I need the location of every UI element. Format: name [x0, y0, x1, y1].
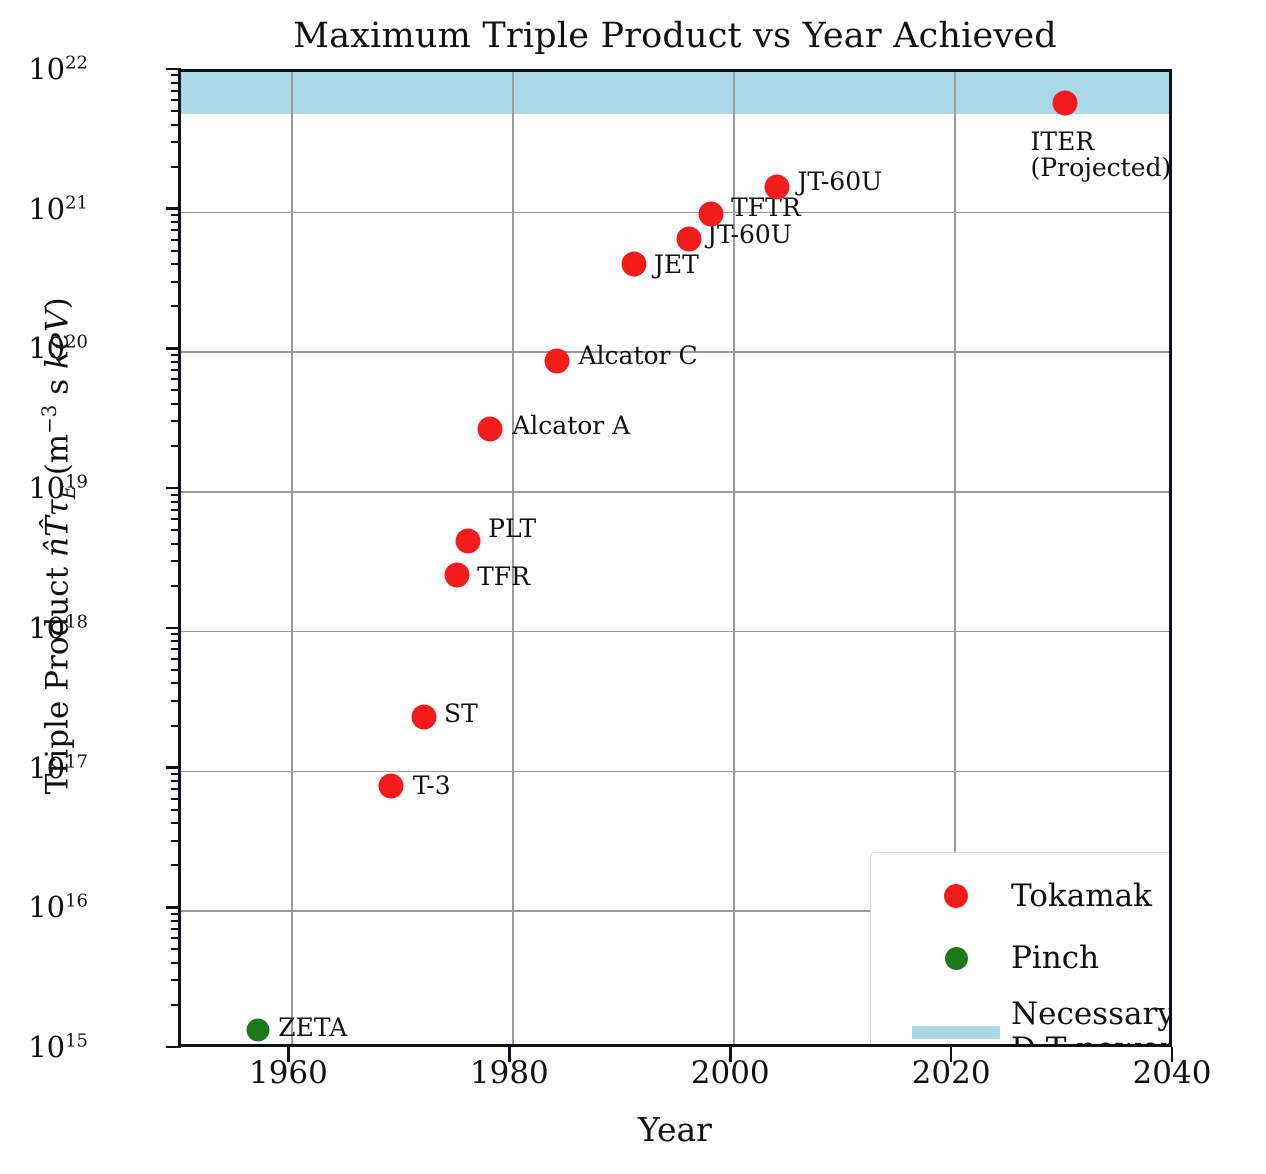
- legend-entry-tokamak: Tokamak: [871, 865, 1172, 927]
- data-point-jt-60u[interactable]: [765, 175, 790, 200]
- y-tick-minor: [171, 700, 180, 702]
- y-axis-label-lead: Triple Product: [40, 557, 76, 794]
- data-point-t-3[interactable]: [378, 773, 403, 798]
- y-tick-minor: [171, 913, 180, 915]
- y-tick-minor: [171, 494, 180, 496]
- y-tick-minor: [171, 979, 180, 981]
- y-tick-minor: [171, 90, 180, 92]
- y-tick-minor: [171, 281, 180, 283]
- y-tick-minor: [171, 780, 180, 782]
- y-tick-major: [166, 347, 181, 350]
- y-tick-minor: [171, 445, 180, 447]
- y-tick-minor: [171, 239, 180, 241]
- y-tick-minor: [171, 773, 180, 775]
- plot-area: T-3STTFRPLTAlcator AAlcator CJETJT-60UTF…: [178, 69, 1172, 1047]
- figure: Maximum Triple Product vs Year Achieved …: [0, 0, 1266, 1174]
- x-tick-major: [1171, 1047, 1174, 1062]
- y-tick-minor: [171, 369, 180, 371]
- legend-label-band-line1: Necessary for: [1011, 996, 1172, 1032]
- pinch-marker-icon: [901, 947, 1011, 970]
- data-point-label: JET: [654, 252, 699, 278]
- legend-label-band: Necessary forD-T power plant: [1011, 997, 1172, 1047]
- y-tick-minor: [171, 633, 180, 635]
- y-tick-minor: [171, 864, 180, 866]
- data-point-plt[interactable]: [456, 528, 481, 553]
- y-tick-minor: [171, 962, 180, 964]
- gridline-horizontal: [181, 771, 1169, 773]
- data-point-label: ZETA: [278, 1015, 347, 1041]
- y-tick-label: 1022: [0, 52, 88, 86]
- y-tick-minor: [171, 305, 180, 307]
- tokamak-marker-icon: [901, 884, 1011, 908]
- data-point-alcator-a[interactable]: [478, 416, 503, 441]
- y-axis-label-unit-rest: s: [40, 369, 76, 405]
- data-point-label: Alcator A: [512, 413, 630, 439]
- y-tick-minor: [171, 682, 180, 684]
- y-tick-major: [166, 487, 181, 490]
- y-tick-minor: [171, 585, 180, 587]
- data-point-st[interactable]: [411, 705, 436, 730]
- x-tick-major: [729, 1047, 732, 1062]
- y-tick-minor: [171, 809, 180, 811]
- y-tick-minor: [171, 928, 180, 930]
- y-tick-major: [166, 1046, 181, 1049]
- y-axis-label-unit-open: (m: [40, 434, 76, 485]
- chart-title: Maximum Triple Product vs Year Achieved: [178, 16, 1172, 56]
- y-tick-minor: [171, 229, 180, 231]
- y-axis-label: Triple Product n̂T̂τE (m−3 s keV): [38, 151, 80, 941]
- y-axis-label-unit-kev: keV: [40, 309, 76, 369]
- y-tick-minor: [171, 1004, 180, 1006]
- chart-legend[interactable]: Tokamak Pinch Necessary forD-T power pla…: [870, 852, 1172, 1047]
- y-tick-minor: [171, 501, 180, 503]
- data-point-tftr[interactable]: [699, 201, 724, 226]
- data-point-label: JT-60U: [707, 222, 792, 248]
- data-point-iter[interactable]: [1052, 90, 1077, 115]
- y-tick-minor: [171, 920, 180, 922]
- data-point-label: TFTR: [731, 195, 801, 221]
- legend-label-band-line2: D-T power plant: [1011, 1031, 1172, 1047]
- data-point-jet[interactable]: [621, 252, 646, 277]
- data-point-label: PLT: [488, 516, 536, 542]
- y-axis-label-T: T̂: [40, 516, 76, 537]
- y-tick-minor: [171, 518, 180, 520]
- legend-label-tokamak: Tokamak: [1011, 879, 1152, 914]
- data-point-alcator-c[interactable]: [544, 349, 569, 374]
- data-point-label: JT-60U: [797, 169, 882, 195]
- y-tick-minor: [171, 166, 180, 168]
- y-tick-major: [166, 207, 181, 210]
- y-tick-minor: [171, 640, 180, 642]
- data-point-label: Alcator C: [579, 343, 698, 369]
- y-tick-minor: [171, 389, 180, 391]
- y-tick-major: [166, 906, 181, 909]
- y-tick-minor: [171, 788, 180, 790]
- y-tick-minor: [171, 543, 180, 545]
- y-tick-minor: [171, 82, 180, 84]
- data-point-jt-60u[interactable]: [677, 226, 702, 251]
- y-tick-major: [166, 766, 181, 769]
- y-tick-minor: [171, 937, 180, 939]
- x-tick-major: [508, 1047, 511, 1062]
- y-tick-minor: [171, 221, 180, 223]
- data-point-label: ST: [444, 701, 478, 727]
- y-tick-minor: [171, 124, 180, 126]
- legend-label-pinch: Pinch: [1011, 941, 1099, 976]
- y-tick-minor: [171, 250, 180, 252]
- y-tick-minor: [171, 403, 180, 405]
- data-point-label: TFR: [477, 564, 530, 590]
- y-tick-label: 1015: [0, 1030, 88, 1064]
- y-tick-minor: [171, 648, 180, 650]
- y-tick-minor: [171, 560, 180, 562]
- y-axis-label-unit-close: ): [40, 297, 76, 309]
- y-tick-minor: [171, 378, 180, 380]
- y-tick-minor: [171, 110, 180, 112]
- y-tick-minor: [171, 669, 180, 671]
- y-tick-minor: [171, 214, 180, 216]
- gridline-vertical: [512, 72, 514, 1044]
- x-tick-major: [287, 1047, 290, 1062]
- y-tick-major: [166, 68, 181, 71]
- y-axis-label-tau-sub: E: [57, 485, 80, 499]
- y-tick-minor: [171, 822, 180, 824]
- y-tick-minor: [171, 263, 180, 265]
- legend-entry-pinch: Pinch: [871, 927, 1172, 989]
- band-swatch-icon: [901, 1026, 1011, 1039]
- dt-power-plant-band: [181, 72, 1169, 114]
- y-tick-minor: [171, 725, 180, 727]
- y-tick-minor: [171, 141, 180, 143]
- data-point-tfr[interactable]: [445, 563, 470, 588]
- y-tick-minor: [171, 509, 180, 511]
- y-tick-minor: [171, 798, 180, 800]
- y-axis-label-unit-exp: −3: [38, 405, 61, 434]
- y-tick-minor: [171, 658, 180, 660]
- y-tick-major: [166, 627, 181, 630]
- gridline-vertical: [291, 72, 293, 1044]
- x-tick-major: [950, 1047, 953, 1062]
- data-point-label: ITER(Projected): [1031, 129, 1172, 181]
- x-axis-label: Year: [178, 1110, 1172, 1149]
- y-tick-minor: [171, 354, 180, 356]
- y-tick-minor: [171, 529, 180, 531]
- gridline-horizontal: [181, 491, 1169, 493]
- y-tick-minor: [171, 99, 180, 101]
- gridline-horizontal: [181, 631, 1169, 633]
- y-tick-minor: [171, 420, 180, 422]
- data-point-zeta[interactable]: [247, 1018, 270, 1041]
- gridline-horizontal: [181, 212, 1169, 214]
- legend-entry-band: Necessary forD-T power plant: [871, 989, 1172, 1047]
- y-tick-minor: [171, 948, 180, 950]
- y-tick-minor: [171, 840, 180, 842]
- y-tick-minor: [171, 74, 180, 76]
- data-point-label: T-3: [413, 773, 451, 799]
- y-tick-minor: [171, 361, 180, 363]
- y-axis-label-n: n̂: [40, 537, 76, 557]
- y-axis-label-tau: τ: [40, 499, 76, 516]
